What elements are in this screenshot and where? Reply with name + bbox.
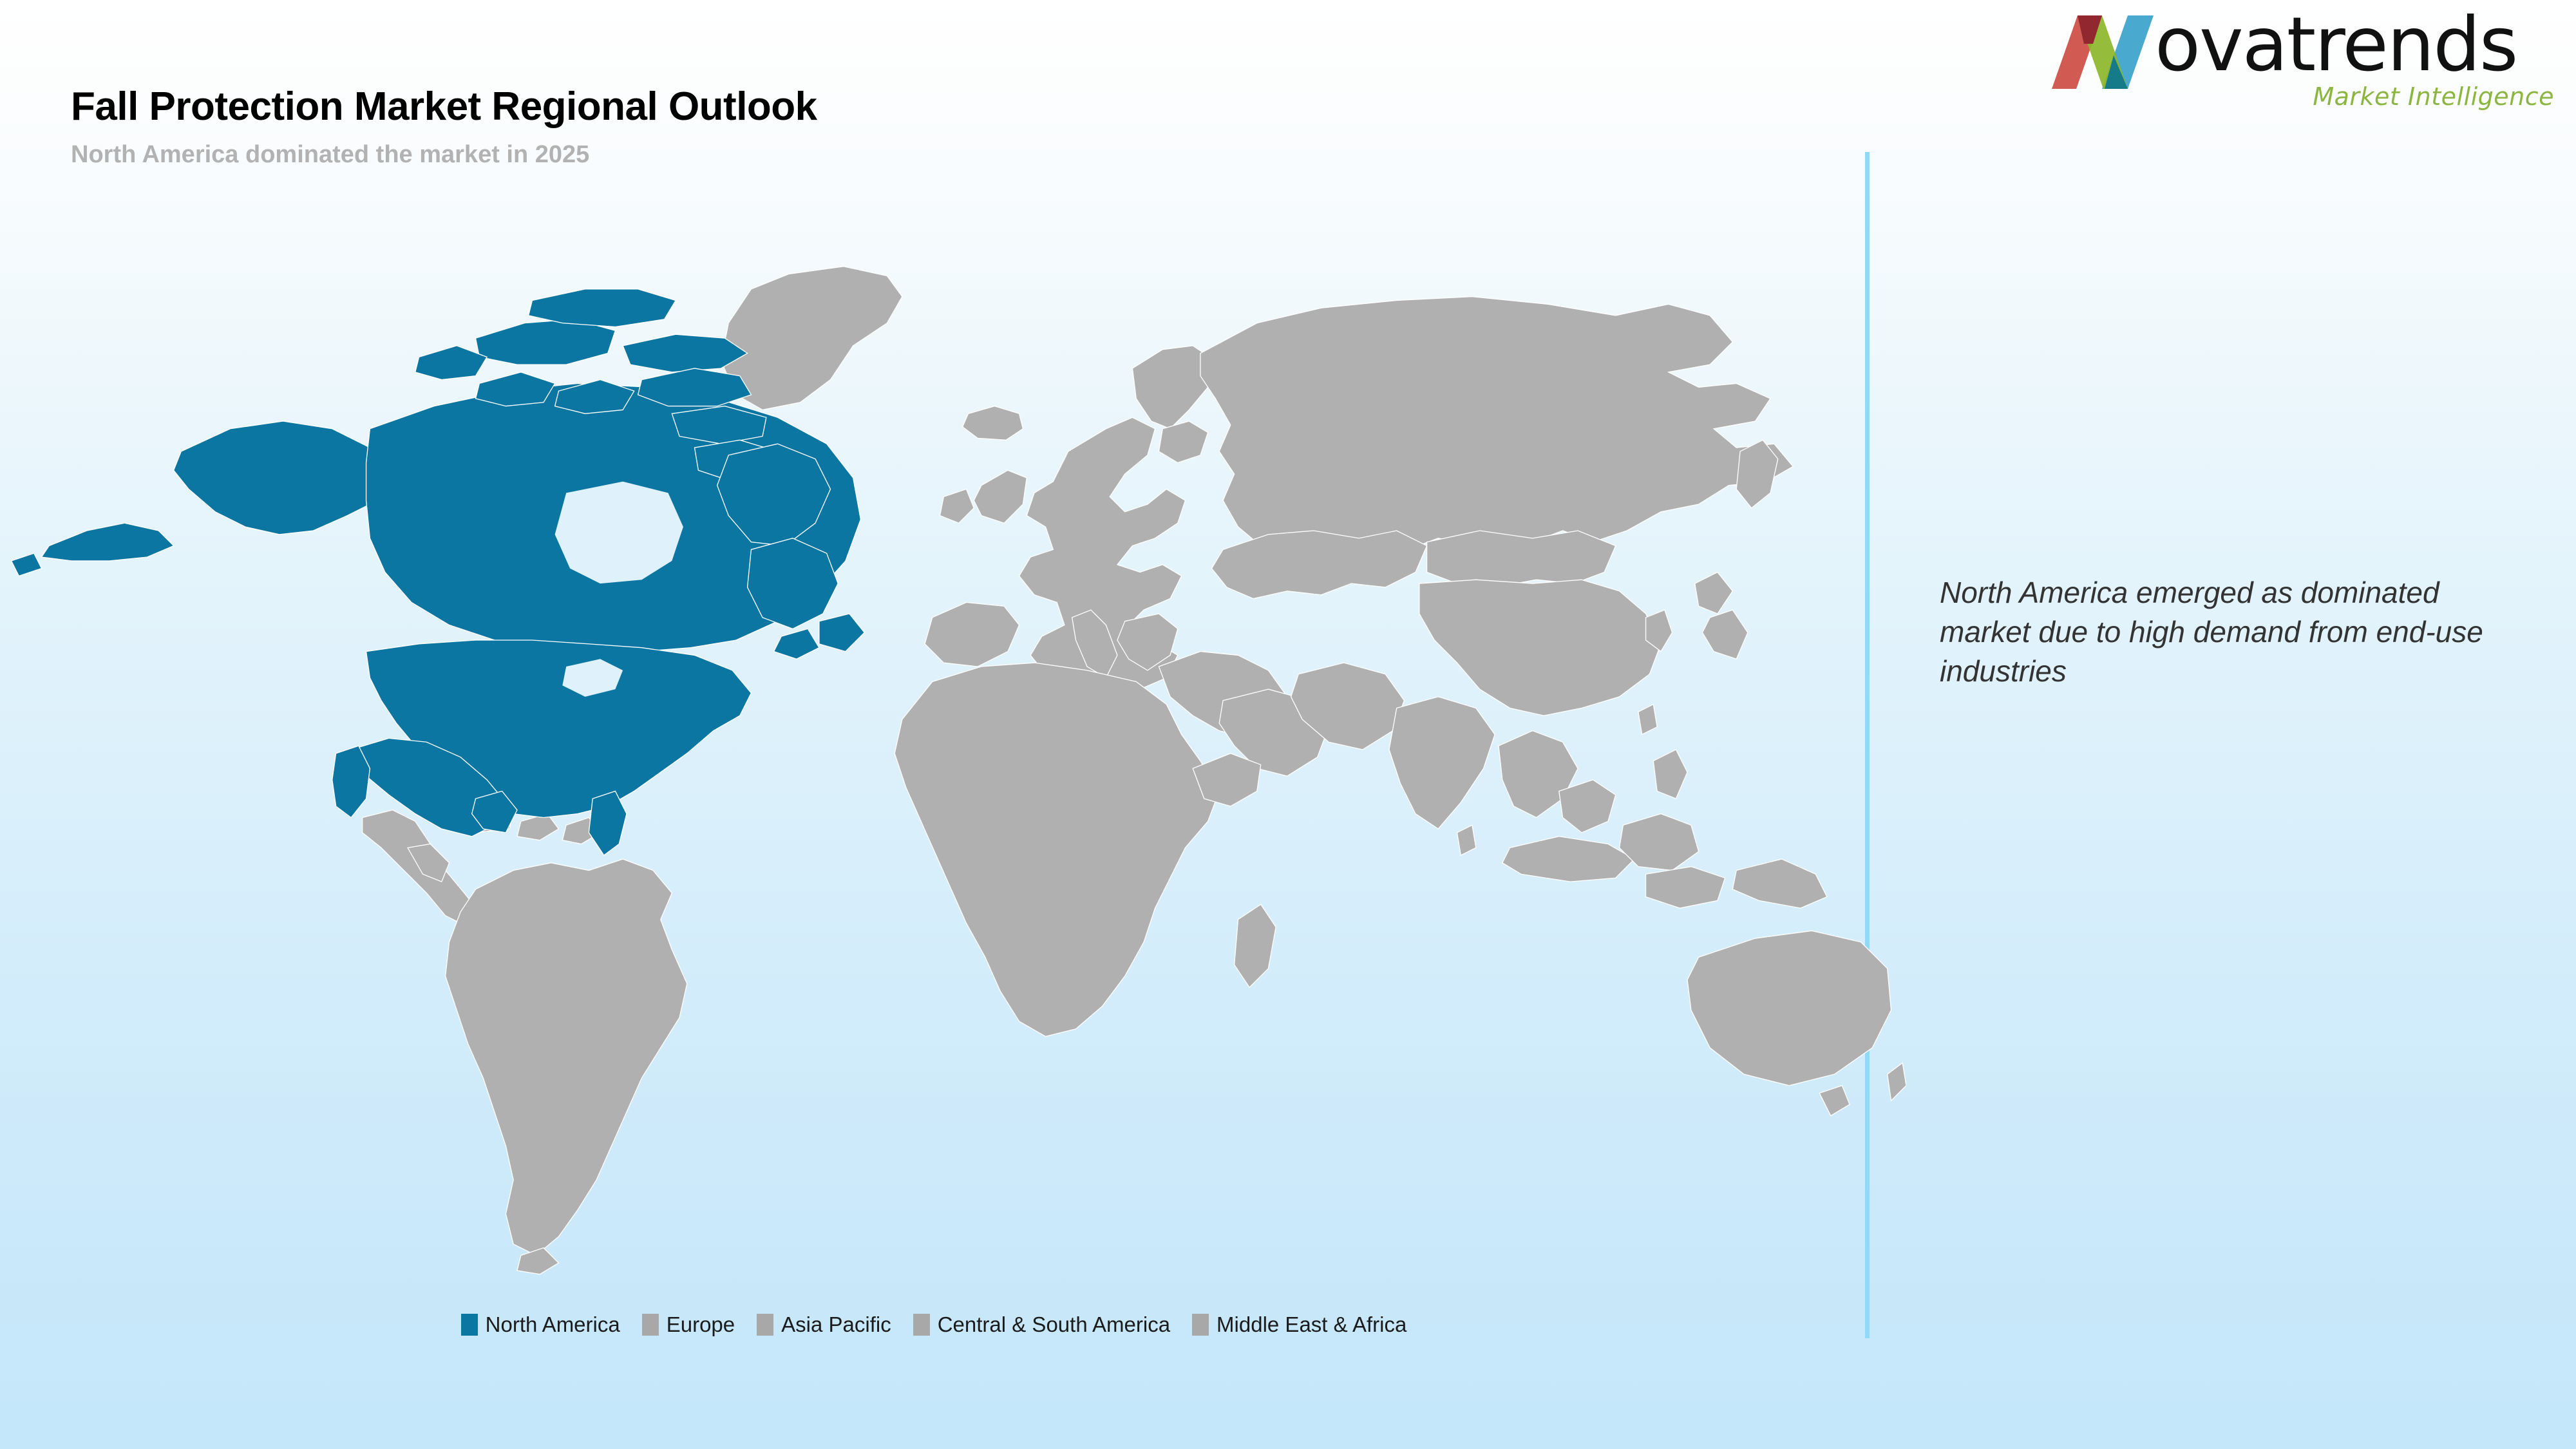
legend-item-label: Europe bbox=[667, 1312, 735, 1337]
logo-wordmark: ovatrends bbox=[2155, 1, 2517, 88]
legend-item-label: North America bbox=[486, 1312, 620, 1337]
legend-item-label: Central & South America bbox=[938, 1312, 1170, 1337]
logo-tagline: Market Intelligence bbox=[2313, 82, 2554, 111]
legend-item[interactable]: North America bbox=[461, 1312, 620, 1337]
header-block: Fall Protection Market Regional Outlook … bbox=[71, 84, 817, 169]
legend-item-label: Asia Pacific bbox=[781, 1312, 891, 1337]
annotation-text: North America emerged as dominated marke… bbox=[1940, 573, 2506, 692]
world-map[interactable] bbox=[0, 245, 1906, 1307]
page-subtitle: North America dominated the market in 20… bbox=[71, 141, 817, 169]
legend-item[interactable]: Asia Pacific bbox=[757, 1312, 891, 1337]
legend-item[interactable]: Europe bbox=[642, 1312, 735, 1337]
legend-swatch-icon bbox=[461, 1314, 478, 1336]
brand-logo[interactable]: ovatrends Market Intelligence bbox=[2047, 5, 2562, 134]
legend-swatch-icon bbox=[913, 1314, 930, 1336]
map-legend: North America Europe Asia Pacific Centra… bbox=[0, 1312, 1868, 1337]
legend-swatch-icon bbox=[1192, 1314, 1209, 1336]
novatrends-logo-mark-icon bbox=[2047, 10, 2156, 94]
legend-swatch-icon bbox=[642, 1314, 659, 1336]
legend-item[interactable]: Middle East & Africa bbox=[1192, 1312, 1406, 1337]
infographic-slide: Fall Protection Market Regional Outlook … bbox=[0, 0, 2576, 1449]
page-title: Fall Protection Market Regional Outlook bbox=[71, 84, 817, 129]
legend-item-label: Middle East & Africa bbox=[1217, 1312, 1406, 1337]
legend-item[interactable]: Central & South America bbox=[913, 1312, 1170, 1337]
legend-swatch-icon bbox=[757, 1314, 773, 1336]
